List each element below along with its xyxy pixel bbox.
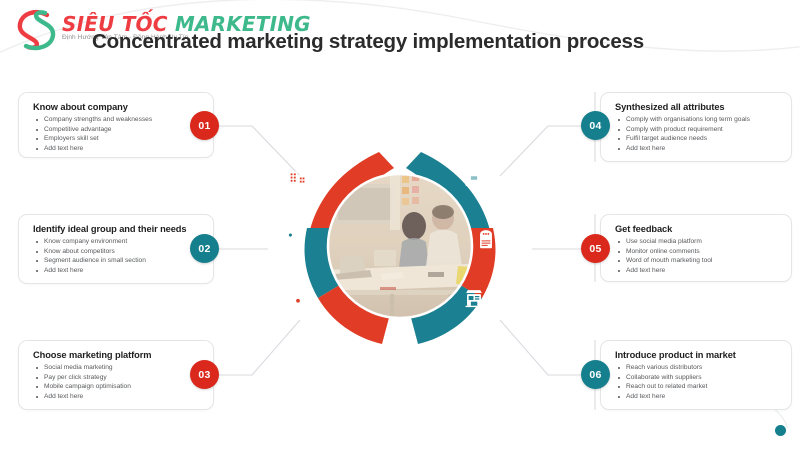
list-item: Comply with product requirement xyxy=(615,125,779,135)
list-item: Company strengths and weaknesses xyxy=(33,115,201,125)
step-bullets-01: Company strengths and weaknesses Competi… xyxy=(33,115,201,153)
list-item: Employers skill set xyxy=(33,134,201,144)
list-item: Social media marketing xyxy=(33,363,201,373)
step-badge-01[interactable]: 01 xyxy=(190,111,219,140)
corner-accent-dot xyxy=(775,425,786,436)
step-title-01: Know about company xyxy=(33,102,201,112)
step-title-02: Identify ideal group and their needs xyxy=(33,224,201,234)
step-title-06: Introduce product in market xyxy=(615,350,779,360)
list-item: Add text here xyxy=(33,144,201,154)
step-title-04: Synthesized all attributes xyxy=(615,102,779,112)
infographic-canvas: SIÊU TỐC MARKETING Định Hướng Tận Tâm - … xyxy=(0,0,800,450)
list-item: Add text here xyxy=(615,392,779,402)
list-item: Use social media platform xyxy=(615,237,779,247)
step-title-05: Get feedback xyxy=(615,224,779,234)
list-item: Monitor online comments xyxy=(615,247,779,257)
list-item: Know about competitors xyxy=(33,247,201,257)
list-item: Collaborate with suppliers xyxy=(615,373,779,383)
central-process-wheel xyxy=(262,146,538,346)
step-bullets-05: Use social media platform Monitor online… xyxy=(615,237,779,275)
list-item: Fulfil target audience needs xyxy=(615,134,779,144)
list-item: Know company environment xyxy=(33,237,201,247)
step-badge-06[interactable]: 06 xyxy=(581,360,610,389)
step-bullets-04: Comply with organisations long term goal… xyxy=(615,115,779,153)
wheel-graphic xyxy=(262,146,538,346)
step-title-03: Choose marketing platform xyxy=(33,350,201,360)
list-item: Add text here xyxy=(615,144,779,154)
page-title: Concentrated marketing strategy implemen… xyxy=(92,30,732,54)
step-bullets-02: Know company environment Know about comp… xyxy=(33,237,201,275)
step-bullets-03: Social media marketing Pay per click str… xyxy=(33,363,201,401)
step-card-03[interactable]: Choose marketing platform Social media m… xyxy=(18,340,214,410)
list-item: Competitive advantage xyxy=(33,125,201,135)
list-item: Reach out to related market xyxy=(615,382,779,392)
step-card-06[interactable]: Introduce product in market Reach variou… xyxy=(600,340,792,410)
list-item: Add text here xyxy=(33,392,201,402)
step-badge-05[interactable]: 05 xyxy=(581,234,610,263)
list-item: Add text here xyxy=(33,266,201,276)
step-badge-04[interactable]: 04 xyxy=(581,111,610,140)
list-item: Mobile campaign optimisation xyxy=(33,382,201,392)
list-item: Word of mouth marketing tool xyxy=(615,256,779,266)
list-item: Comply with organisations long term goal… xyxy=(615,115,779,125)
step-card-05[interactable]: Get feedback Use social media platform M… xyxy=(600,214,792,282)
list-item: Reach various distributors xyxy=(615,363,779,373)
logo-s-mark-icon xyxy=(14,8,60,52)
list-item: Add text here xyxy=(615,266,779,276)
step-bullets-06: Reach various distributors Collaborate w… xyxy=(615,363,779,401)
step-card-04[interactable]: Synthesized all attributes Comply with o… xyxy=(600,92,792,162)
step-card-02[interactable]: Identify ideal group and their needs Kno… xyxy=(18,214,214,284)
step-card-01[interactable]: Know about company Company strengths and… xyxy=(18,92,214,158)
list-item: Pay per click strategy xyxy=(33,373,201,383)
step-badge-02[interactable]: 02 xyxy=(190,234,219,263)
list-item: Segment audience in small section xyxy=(33,256,201,266)
step-badge-03[interactable]: 03 xyxy=(190,360,219,389)
